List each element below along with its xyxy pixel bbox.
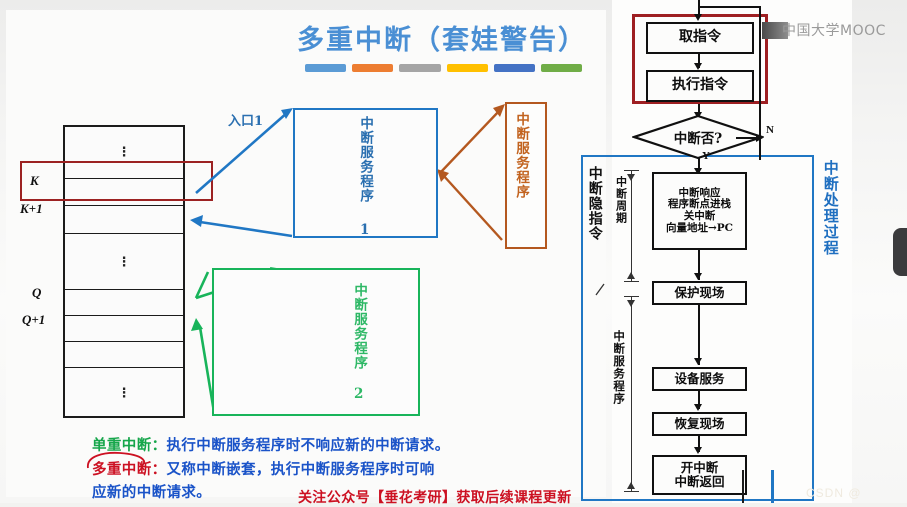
arrow-respond-to-protect: [694, 273, 702, 280]
bracket-cycle-bottom-cap: [624, 281, 639, 282]
flow-line-no-seg: [736, 137, 760, 139]
row-label-q: Q: [32, 285, 41, 301]
arrow-isr-up: [627, 482, 635, 489]
flow-node-device-service-label: 设备服务: [674, 372, 724, 386]
row-dots: ⋮: [118, 144, 131, 160]
flow-node-fetch: 取指令: [646, 22, 754, 54]
flow-node-protect: 保护现场: [652, 281, 747, 305]
flow-line-protect-to-device: [698, 305, 700, 365]
accent-bar-4: [447, 64, 488, 72]
flow-node-restore: 恢复现场: [652, 412, 747, 436]
note-1-body: 执行中断服务程序时不响应新的中断请求。: [167, 438, 450, 454]
row-label-k: K: [30, 173, 39, 189]
isr-1-index: 1: [360, 222, 369, 238]
blue-rail-accent: [771, 470, 774, 503]
label-pointer-tick: [592, 282, 610, 298]
arrow-into-fetch: [694, 14, 702, 21]
accent-bar-6: [541, 64, 582, 72]
arrow-isr-down: [627, 300, 635, 307]
accent-bar-1: [305, 64, 346, 72]
table-row: ⋮: [63, 368, 185, 418]
respond-line-3: 关中断: [684, 211, 716, 223]
arrow-cycle-up: [627, 272, 635, 279]
row-label-k-plus-1: K+1: [20, 201, 43, 217]
table-row: ⋮: [63, 234, 185, 290]
row-dots: ⋮: [118, 385, 131, 401]
isr-2-index: 2: [354, 386, 363, 402]
flow-node-device-service: 设备服务: [652, 367, 747, 391]
branch-label-yes: Y: [702, 150, 710, 162]
respond-line-4: 向量地址→PC: [666, 223, 733, 235]
flow-node-return: 开中断 中断返回: [652, 455, 747, 495]
flow-node-respond: 中断响应 程序断点进栈 关中断 向量地址→PC: [652, 172, 747, 250]
return-line-2: 中断返回: [674, 475, 724, 489]
label-interrupt-process: 中断处理过程: [822, 160, 838, 290]
flow-node-fetch-label: 取指令: [679, 30, 721, 46]
bracket-isr-bottom-cap: [624, 491, 639, 492]
bracket-isr: [631, 296, 632, 492]
flow-loopback-horizontal: [698, 6, 760, 8]
branch-label-no: N: [766, 124, 774, 136]
row-dots: ⋮: [118, 254, 131, 270]
right-edge-tab[interactable]: [893, 228, 907, 276]
flow-node-execute: 执行指令: [646, 70, 754, 102]
return-line-1: 开中断: [681, 461, 719, 475]
black-rail-accent: [742, 470, 744, 503]
note-2-body: 又称中断嵌套，执行中断服务程序时可响: [167, 462, 435, 478]
label-isr-bracket: 中断服务程序: [613, 330, 625, 425]
row-label-q-plus-1: Q+1: [22, 312, 45, 328]
label-interrupt-cycle: 中断周期: [615, 176, 627, 256]
flow-node-execute-label: 执行指令: [672, 78, 728, 94]
note-2-key: 多重中断：: [92, 462, 167, 478]
table-row: [63, 342, 185, 368]
accent-bar-3: [399, 64, 440, 72]
bracket-isr-top-cap: [624, 296, 639, 297]
title-accent-bars: [305, 64, 582, 73]
table-row: [63, 206, 185, 234]
slide-canvas: 多重中断（套娃警告） ⋮ ⋮ ⋮ K K+1 Q Q+1: [0, 0, 907, 503]
promo-text: 关注公众号【垂花考研】获取后续课程更新: [298, 487, 572, 507]
accent-bar-5: [494, 64, 535, 72]
arrow-restore-to-return: [694, 447, 702, 454]
entry-1-label: 入口1: [228, 110, 263, 129]
flow-node-restore-label: 恢复现场: [674, 417, 724, 431]
bracket-cycle-top-cap: [624, 170, 639, 171]
arrow-cycle-down: [627, 174, 635, 181]
isr-1-label: 中断服务程序: [358, 116, 372, 224]
flow-node-protect-label: 保护现场: [674, 286, 724, 300]
bracket-interrupt-cycle: [631, 170, 632, 282]
note-line-3: 应新的中断请求。: [92, 481, 211, 502]
arrow-protect-to-device: [694, 358, 702, 365]
table-row: [63, 290, 185, 316]
isr-2-box: [212, 268, 420, 416]
note-line-2: 多重中断：又称中断嵌套，执行中断服务程序时可响: [92, 458, 435, 479]
table-row: [63, 316, 185, 342]
watermark-bottom: CSDN @: [806, 486, 862, 500]
arrow-fetch-to-execute: [694, 63, 702, 70]
watermark-mooc: 中国大学MOOC: [782, 20, 886, 40]
isr-nested-label: 中断服务程序: [514, 112, 528, 240]
highlight-k-row: [20, 161, 213, 201]
arrow-device-to-restore: [694, 404, 702, 411]
note-1-key: 单重中断：: [92, 438, 167, 454]
note-line-1: 单重中断：执行中断服务程序时不响应新的中断请求。: [92, 434, 450, 455]
accent-bar-2: [352, 64, 393, 72]
label-hidden-instruction: 中断隐指令: [587, 166, 602, 286]
slide-title: 多重中断（套娃警告）: [292, 18, 592, 56]
isr-2-label: 中断服务程序: [352, 283, 366, 387]
